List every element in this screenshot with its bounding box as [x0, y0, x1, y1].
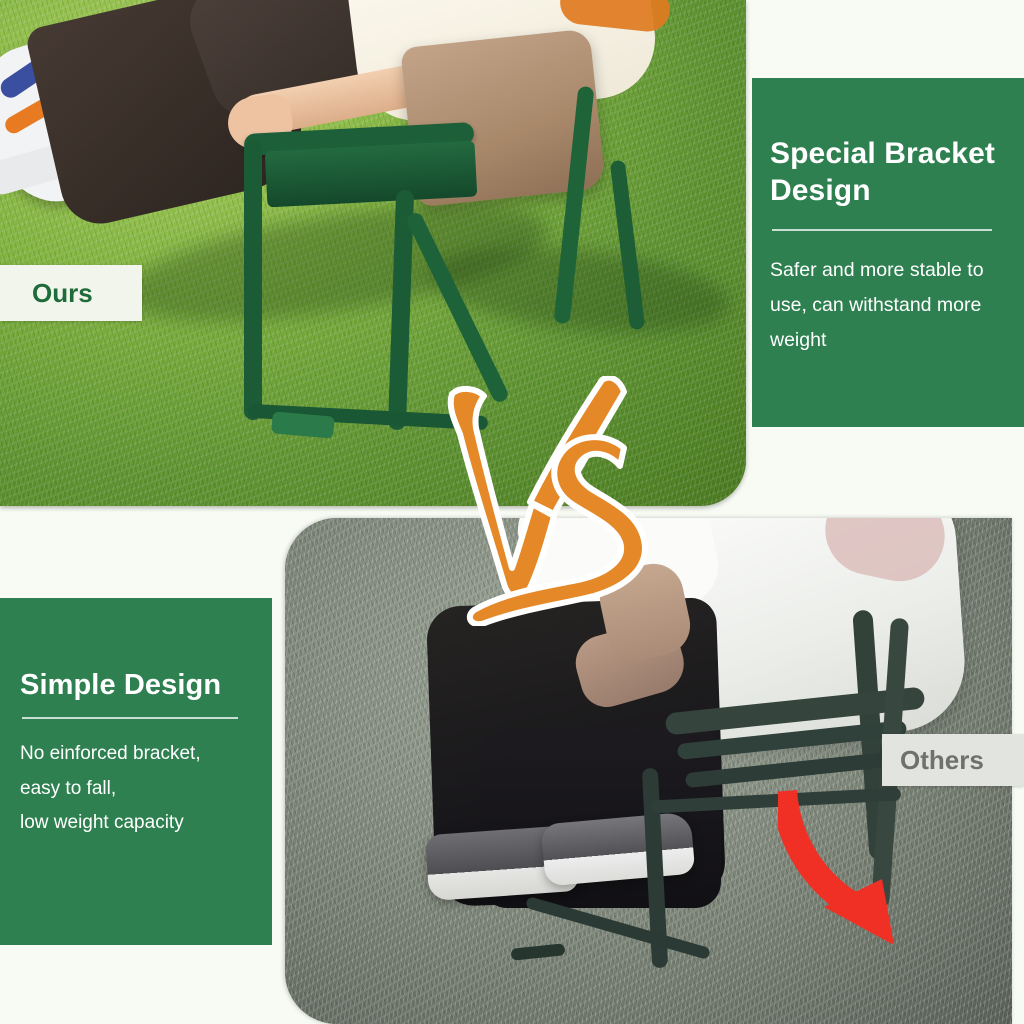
tag-others-label: Others: [900, 745, 984, 776]
panel-ours-copy: Special Bracket Design Safer and more st…: [752, 78, 1024, 427]
panel-others-body-line-1: No einforced bracket,: [20, 743, 201, 764]
panel-ours-title: Special Bracket Design: [770, 136, 998, 209]
photo-ours: Ours: [0, 0, 746, 506]
frame-left-leg: [244, 140, 262, 420]
tag-ours: Ours: [0, 265, 142, 321]
frame-seat-panel: [265, 141, 478, 208]
infographic-canvas: Ours Special Bracket Design Safer and mo…: [0, 0, 1024, 1024]
tag-ours-label: Ours: [32, 278, 93, 309]
panel-others-copy: Simple Design No einforced bracket, easy…: [0, 598, 272, 945]
panel-ours-body: Safer and more stable to use, can withst…: [770, 253, 998, 357]
panel-others-body: No einforced bracket, easy to fall, low …: [20, 737, 254, 840]
panel-others-body-line-3: low weight capacity: [20, 812, 184, 833]
panel-ours-divider: [772, 229, 992, 231]
panel-others-title: Simple Design: [20, 668, 254, 703]
panel-others-body-line-2: easy to fall,: [20, 778, 116, 799]
tag-others: Others: [882, 734, 1024, 786]
panel-others-divider: [22, 717, 238, 719]
sneaker-right: [541, 812, 696, 887]
